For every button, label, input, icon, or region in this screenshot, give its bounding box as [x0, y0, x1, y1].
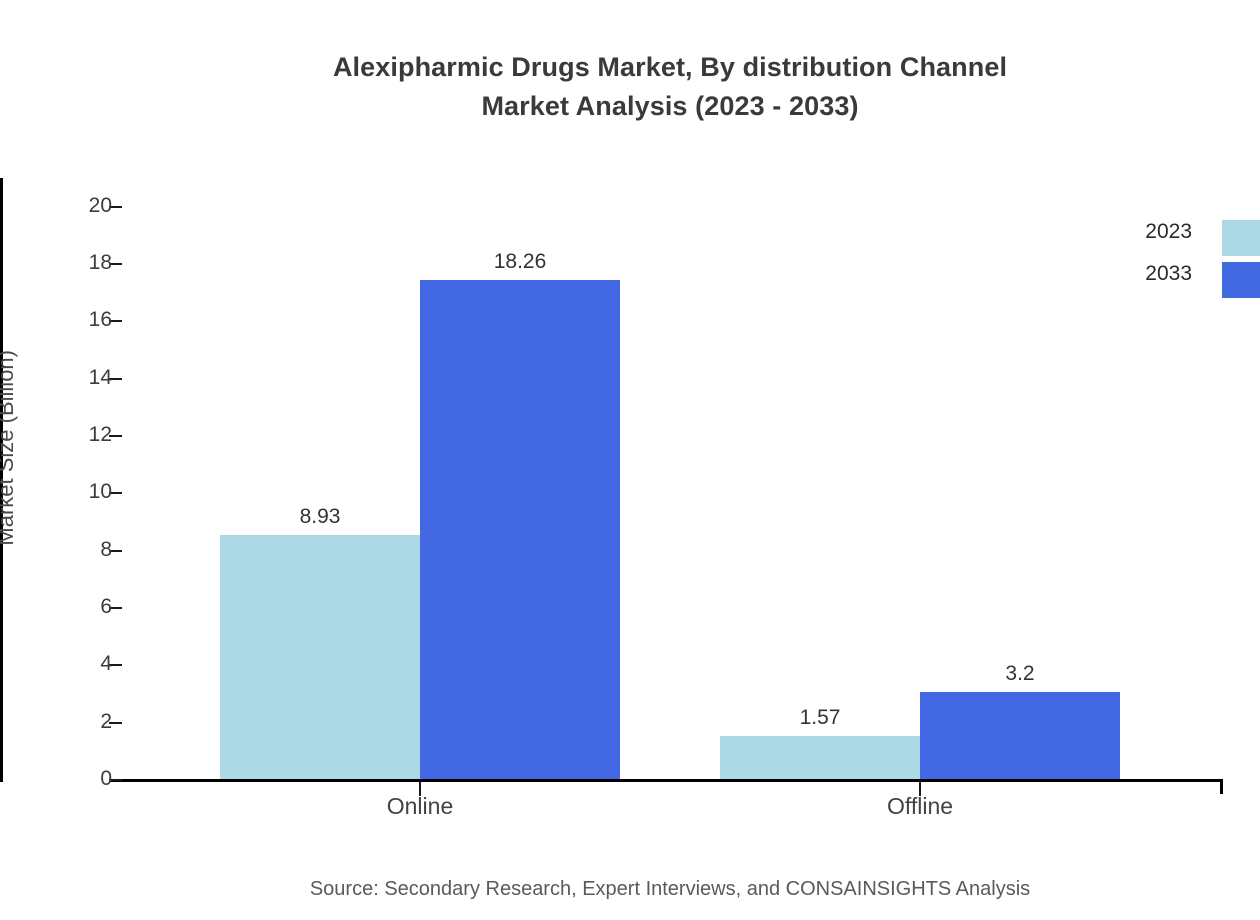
bar-value-online-2023: 8.93 [210, 505, 430, 529]
legend-label-2023: 2023 [1145, 220, 1192, 244]
bars-layer [0, 178, 1260, 779]
legend-item-2023[interactable]: 2023 [1100, 214, 1260, 256]
x-axis-line [109, 779, 1223, 782]
x-axis-end-cap [1220, 779, 1223, 794]
bar-value-online-2033: 18.26 [410, 250, 630, 274]
chart-title-line-1: Alexipharmic Drugs Market, By distributi… [0, 48, 1260, 87]
bar-value-offline-2033: 3.2 [910, 662, 1130, 686]
bar-online-2033[interactable] [420, 280, 620, 779]
legend-swatch-2023 [1222, 220, 1260, 256]
legend-swatch-2033 [1222, 262, 1260, 298]
x-tick-label-offline: Offline [770, 793, 1070, 820]
x-tick-label-online: Online [270, 793, 570, 820]
source-note: Source: Secondary Research, Expert Inter… [0, 878, 1260, 901]
bar-online-2023[interactable] [220, 535, 420, 779]
bar-offline-2023[interactable] [720, 736, 920, 779]
legend-label-2033: 2033 [1145, 262, 1192, 286]
bar-offline-2033[interactable] [920, 692, 1120, 779]
legend-item-2033[interactable]: 2033 [1100, 256, 1260, 298]
chart-title-line-2: Market Analysis (2023 - 2033) [0, 87, 1260, 126]
chart-legend: 2023 2033 [1100, 214, 1260, 310]
bar-value-offline-2023: 1.57 [710, 706, 930, 730]
chart-title: Alexipharmic Drugs Market, By distributi… [0, 48, 1260, 126]
chart-figure: Alexipharmic Drugs Market, By distributi… [0, 0, 1260, 920]
